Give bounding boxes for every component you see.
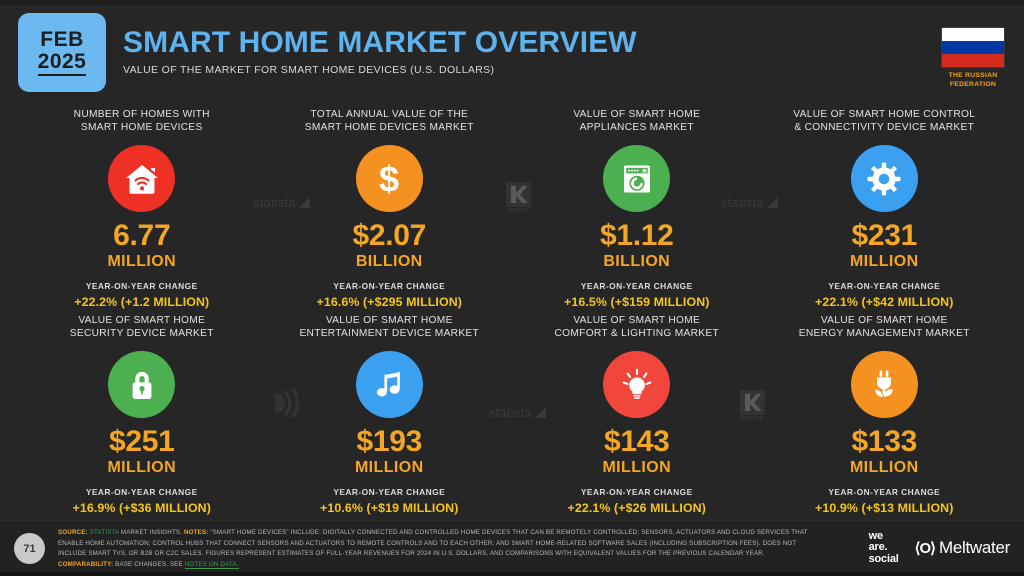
date-badge: FEB 2025 (18, 13, 106, 92)
metric-change-label: YEAR-ON-YEAR CHANGE (86, 487, 198, 497)
brand-logos: we are. social ⟨O⟩ Meltwater (869, 531, 1010, 565)
svg-text:$: $ (379, 159, 399, 199)
metric-value: $193 (356, 427, 422, 457)
comparability-text: BASE CHANGES. (115, 561, 168, 568)
metric-change-label: YEAR-ON-YEAR CHANGE (86, 281, 198, 291)
country-name: THE RUSSIAN FEDERATION (934, 72, 1012, 90)
metric-change-label: YEAR-ON-YEAR CHANGE (333, 487, 445, 497)
metric-unit: MILLION (107, 254, 176, 270)
metric-card-comfort-lighting: VALUE OF SMART HOME COMFORT & LIGHTING M… (513, 314, 761, 520)
title-block: SMART HOME MARKET OVERVIEW VALUE OF THE … (123, 27, 637, 76)
metric-change-value: +16.6% (+$295 MILLION) (317, 295, 462, 309)
meltwater-logo: ⟨O⟩ Meltwater (915, 538, 1010, 558)
header: FEB 2025 SMART HOME MARKET OVERVIEW VALU… (18, 13, 1012, 93)
we-are-social-logo: we are. social (869, 531, 899, 565)
footer: 71 SOURCE: STATISTA MARKET INSIGHTS. NOT… (0, 520, 1024, 576)
date-month: FEB (40, 29, 84, 51)
see-text: SEE (170, 561, 183, 568)
metric-change-value: +22.1% (+$26 MILLION) (568, 501, 706, 515)
metrics-grid: NUMBER OF HOMES WITH SMART HOME DEVICES … (18, 108, 1008, 520)
metric-change-value: +10.6% (+$19 MILLION) (320, 501, 458, 515)
metric-change-label: YEAR-ON-YEAR CHANGE (581, 487, 693, 497)
metric-label: VALUE OF SMART HOME COMFORT & LIGHTING M… (555, 314, 719, 342)
power-plug-leaf-icon (851, 351, 918, 418)
source-name: STATISTA (90, 529, 119, 536)
comparability-label: COMPARABILITY: (58, 561, 113, 568)
metric-card-security: VALUE OF SMART HOME SECURITY DEVICE MARK… (18, 314, 266, 520)
metric-change-label: YEAR-ON-YEAR CHANGE (581, 281, 693, 291)
source-label: SOURCE: (58, 529, 88, 536)
metric-label: TOTAL ANNUAL VALUE OF THE SMART HOME DEV… (305, 108, 474, 136)
metric-card-control-connectivity: VALUE OF SMART HOME CONTROL & CONNECTIVI… (761, 108, 1009, 314)
meltwater-eye-icon: ⟨O⟩ (915, 539, 935, 557)
metric-change-label: YEAR-ON-YEAR CHANGE (828, 281, 940, 291)
footer-notes: SOURCE: STATISTA MARKET INSIGHTS. NOTES:… (58, 528, 808, 571)
metric-unit: BILLION (356, 254, 423, 270)
notes-on-data-link[interactable]: NOTES ON DATA. (185, 561, 239, 569)
slide-root: FEB 2025 SMART HOME MARKET OVERVIEW VALU… (0, 0, 1024, 576)
metric-value: $251 (109, 427, 175, 457)
page-number-badge: 71 (14, 533, 45, 564)
date-year: 2025 (38, 50, 87, 76)
metric-value: $231 (851, 221, 917, 251)
metric-label: VALUE OF SMART HOME APPLIANCES MARKET (573, 108, 700, 136)
metric-unit: MILLION (107, 460, 176, 476)
top-bar (0, 0, 1024, 5)
metric-unit: MILLION (602, 460, 671, 476)
padlock-icon (108, 351, 175, 418)
metric-change-value: +10.9% (+$13 MILLION) (815, 501, 953, 515)
metric-change-value: +16.5% (+$159 MILLION) (564, 295, 709, 309)
metric-card-homes: NUMBER OF HOMES WITH SMART HOME DEVICES … (18, 108, 266, 314)
page-subtitle: VALUE OF THE MARKET FOR SMART HOME DEVIC… (123, 64, 637, 76)
dollar-sign-icon: $ (356, 145, 423, 212)
metric-unit: MILLION (355, 460, 424, 476)
light-bulb-icon (603, 351, 670, 418)
metric-value: $133 (851, 427, 917, 457)
metric-card-energy-management: VALUE OF SMART HOME ENERGY MANAGEMENT MA… (761, 314, 1009, 520)
metric-label: VALUE OF SMART HOME CONTROL & CONNECTIVI… (793, 108, 975, 136)
metric-unit: MILLION (850, 460, 919, 476)
country-block: THE RUSSIAN FEDERATION (934, 27, 1012, 90)
house-wifi-icon (108, 145, 175, 212)
metric-value: $1.12 (600, 221, 674, 251)
metric-card-entertainment: VALUE OF SMART HOME ENTERTAINMENT DEVICE… (266, 314, 514, 520)
metric-label: VALUE OF SMART HOME ENTERTAINMENT DEVICE… (299, 314, 479, 342)
metric-value: $143 (604, 427, 670, 457)
metric-change-value: +22.1% (+$42 MILLION) (815, 295, 953, 309)
metric-card-appliances: VALUE OF SMART HOME APPLIANCES MARKET $1… (513, 108, 761, 314)
metric-unit: MILLION (850, 254, 919, 270)
metric-value: $2.07 (352, 221, 426, 251)
metric-unit: BILLION (603, 254, 670, 270)
gear-icon (851, 145, 918, 212)
page-title: SMART HOME MARKET OVERVIEW (123, 27, 637, 59)
metric-card-total-value: TOTAL ANNUAL VALUE OF THE SMART HOME DEV… (266, 108, 514, 314)
metric-label: VALUE OF SMART HOME SECURITY DEVICE MARK… (70, 314, 214, 342)
bottom-edge (0, 572, 1024, 576)
notes-label: NOTES: (184, 529, 208, 536)
metric-change-label: YEAR-ON-YEAR CHANGE (333, 281, 445, 291)
washing-machine-icon (603, 145, 670, 212)
russian-flag-icon (941, 27, 1005, 68)
metric-change-value: +22.2% (+1.2 MILLION) (74, 295, 209, 309)
meltwater-wordmark: Meltwater (939, 538, 1010, 558)
music-note-icon (356, 351, 423, 418)
source-rest: MARKET INSIGHTS. (121, 529, 182, 536)
metric-label: NUMBER OF HOMES WITH SMART HOME DEVICES (74, 108, 210, 136)
metric-value: 6.77 (113, 221, 170, 251)
metric-label: VALUE OF SMART HOME ENERGY MANAGEMENT MA… (799, 314, 970, 342)
metric-change-value: +16.9% (+$36 MILLION) (73, 501, 211, 515)
metric-change-label: YEAR-ON-YEAR CHANGE (828, 487, 940, 497)
